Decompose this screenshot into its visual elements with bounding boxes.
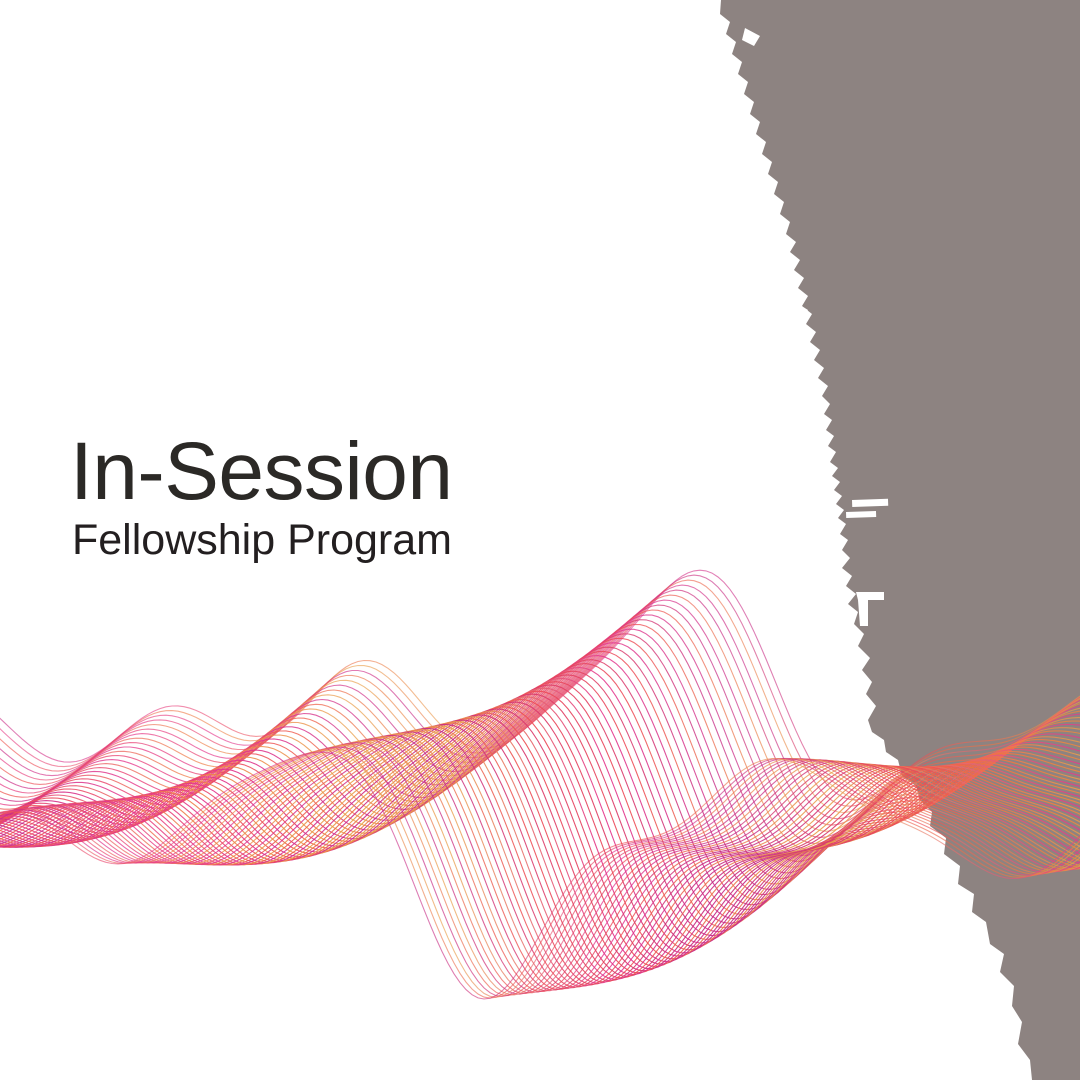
wave-line [0,717,1080,975]
wave-line [0,727,1080,984]
title-block: In-Session Fellowship Program [70,432,452,564]
wave-line [0,743,1080,995]
wave-line-bundle [0,570,1080,999]
wave-line [0,643,1080,889]
wave-line [0,711,1080,969]
page-subtitle: Fellowship Program [72,518,452,563]
wave-line [0,620,1080,862]
wave-line [0,746,1080,996]
wave-line [0,702,1080,959]
page-title: In-Session [70,432,452,512]
wave-line [0,700,1080,956]
wave-line [0,625,1080,868]
poster-canvas: In-Session Fellowship Program [0,0,1080,1080]
